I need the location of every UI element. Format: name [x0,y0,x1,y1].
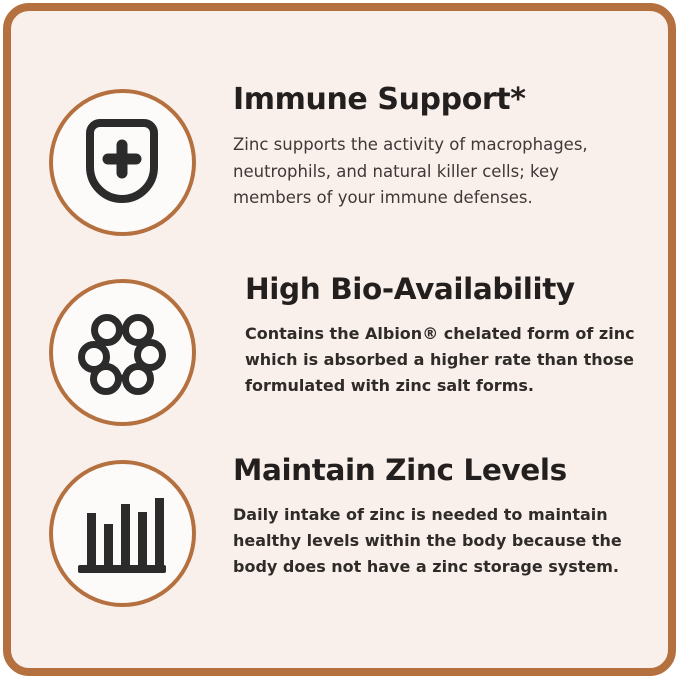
icon-circle [49,279,196,426]
feature-list: Immune Support* Zinc supports the activi… [11,11,668,668]
feature-title: Maintain Zinc Levels [233,454,644,486]
text-cell: Maintain Zinc Levels Daily intake of zin… [233,454,668,580]
molecule-icon [74,305,170,401]
feature-poster: Immune Support* Zinc supports the activi… [3,3,676,676]
feature-body: Contains the Albion® chelated form of zi… [245,321,644,399]
icon-cell [11,454,233,607]
feature-item-bio-availability: High Bio-Availability Contains the Albio… [11,273,668,426]
shield-plus-icon [80,117,164,209]
icon-circle [49,89,196,236]
feature-body: Daily intake of zinc is needed to mainta… [233,502,633,580]
icon-cell [11,273,233,426]
feature-item-immune-support: Immune Support* Zinc supports the activi… [11,83,668,236]
icon-cell [11,83,233,236]
text-cell: Immune Support* Zinc supports the activi… [233,83,668,212]
icon-circle [49,460,196,607]
text-cell: High Bio-Availability Contains the Albio… [233,273,668,399]
feature-title: High Bio-Availability [245,273,644,305]
feature-title: Immune Support* [233,83,644,116]
feature-body: Zinc supports the activity of macrophage… [233,132,633,212]
feature-item-maintain-zinc-levels: Maintain Zinc Levels Daily intake of zin… [11,454,668,607]
bar-chart-icon [78,492,166,576]
